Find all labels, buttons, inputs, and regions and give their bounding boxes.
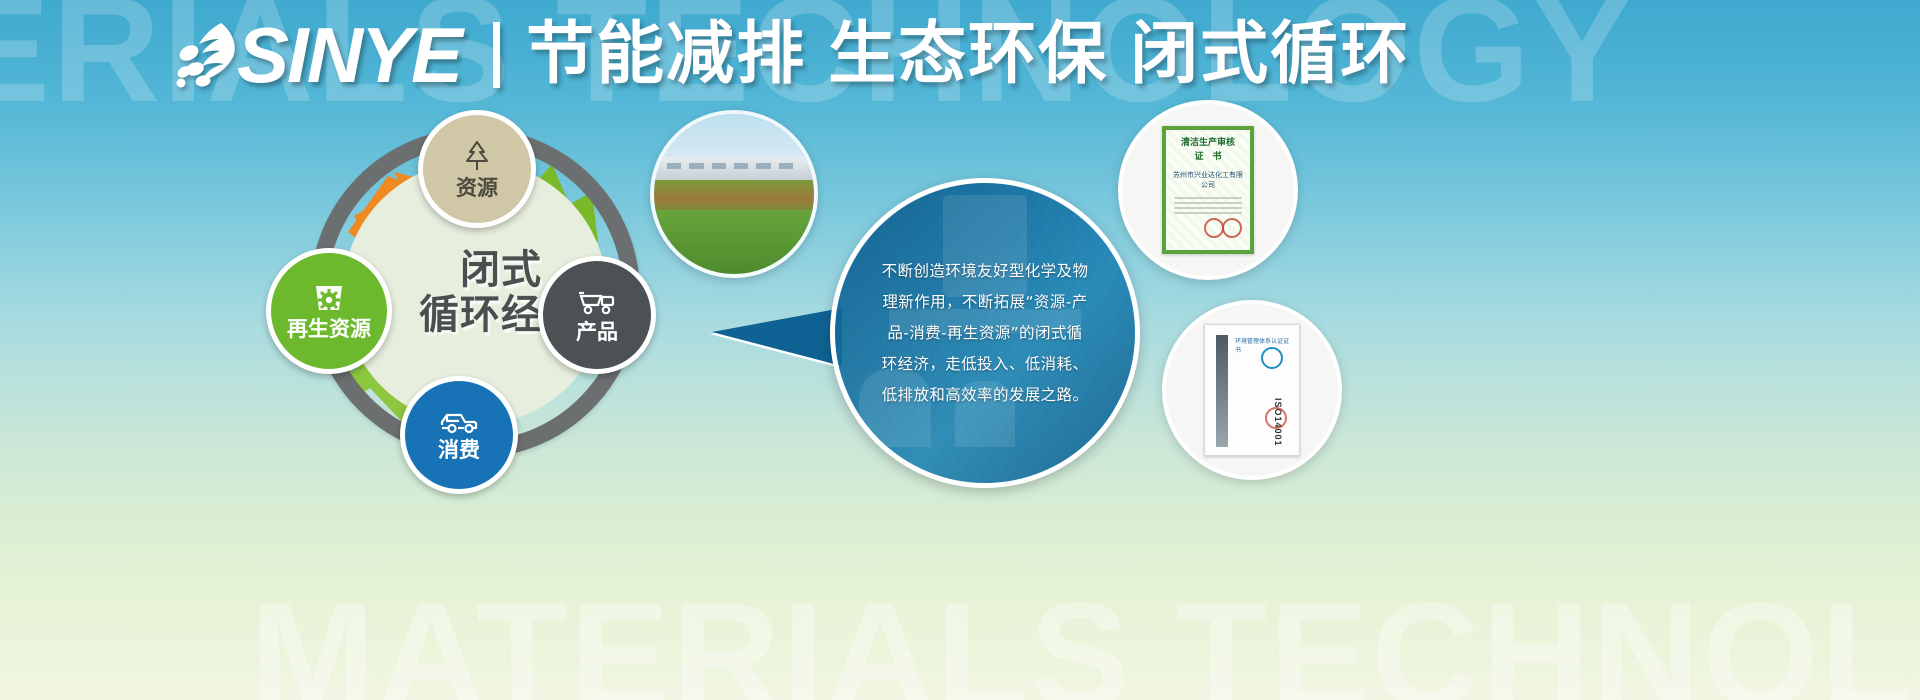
watermark-bottom: MATERIALS TECHNOL (250, 580, 1914, 700)
node-label-resource: 资源 (456, 178, 498, 199)
certificate-paper: 清洁生产审核 证 书 苏州市兴业达化工有限公司 (1162, 126, 1254, 254)
certificate-side-band (1216, 335, 1228, 447)
certification-mark-icon (1261, 347, 1283, 369)
circular-economy-diagram: 闭式 循环经济 资源 (310, 128, 640, 458)
diagram-node-resource[interactable]: 资源 (418, 110, 536, 228)
bubble-line-2: 理新作用，不断拓展“资源-产 (882, 287, 1087, 318)
certificate-body-lines (1172, 197, 1244, 214)
headline-part-1: 节能减排 (526, 15, 806, 94)
car-icon (438, 409, 480, 435)
banner-stage: ERIALS TECHNOLOGY MATERIALS TECHNOL SINY… (0, 0, 1920, 700)
certificate-seal-icon (1222, 218, 1242, 238)
certificate-seal-secondary-icon (1204, 218, 1224, 238)
certificate-company: 苏州市兴业达化工有限公司 (1172, 170, 1244, 190)
description-bubble: 不断创造环境友好型化学及物 理新作用，不断拓展“资源-产 品-消费-再生资源”的… (830, 178, 1140, 488)
certificate-clean-production[interactable]: 清洁生产审核 证 书 苏州市兴业达化工有限公司 (1118, 100, 1298, 280)
certificate-title: 清洁生产审核 (1172, 137, 1244, 151)
leaf-splash-icon (175, 19, 243, 91)
certificate-seal-icon (1265, 407, 1287, 429)
node-label-product: 产品 (576, 322, 618, 343)
diagram-node-recycle[interactable]: 再生资源 (266, 248, 392, 374)
tree-icon (459, 139, 495, 173)
photo-lawn (654, 210, 814, 274)
bubble-line-5: 低排放和高效率的发展之路。 (882, 380, 1089, 411)
banner-header: SINYE 节能减排生态环保闭式循环 (0, 0, 1920, 110)
certificate-iso14001[interactable]: 环境管理体系认证证书 ISO14001 (1162, 300, 1342, 480)
bubble-text: 不断创造环境友好型化学及物 理新作用，不断拓展“资源-产 品-消费-再生资源”的… (830, 178, 1140, 488)
certificate-subtitle: 证 书 (1172, 151, 1244, 165)
header-divider (493, 22, 500, 88)
node-label-consume: 消费 (438, 440, 480, 461)
brand-logo[interactable]: SINYE (175, 16, 461, 94)
cart-truck-icon (577, 287, 617, 317)
headline: 节能减排生态环保闭式循环 (526, 21, 1410, 89)
headline-part-3: 闭式循环 (1130, 15, 1410, 94)
headline-part-2: 生态环保 (828, 15, 1108, 94)
diagram-node-product[interactable]: 产品 (538, 256, 656, 374)
factory-campus-photo (650, 110, 818, 278)
recycle-bin-gear-icon (312, 282, 346, 314)
bubble-tail (712, 308, 842, 366)
bubble-line-3: 品-消费-再生资源”的闭式循 (887, 318, 1082, 349)
center-line-1: 闭式 (460, 248, 542, 293)
node-label-recycle: 再生资源 (287, 319, 371, 340)
bubble-line-4: 环经济，走低投入、低消耗、 (882, 349, 1089, 380)
diagram-node-consume[interactable]: 消费 (400, 376, 518, 494)
certificate-paper: 环境管理体系认证证书 ISO14001 (1204, 324, 1300, 456)
brand-name: SINYE (237, 16, 461, 94)
bubble-line-1: 不断创造环境友好型化学及物 (882, 256, 1089, 287)
